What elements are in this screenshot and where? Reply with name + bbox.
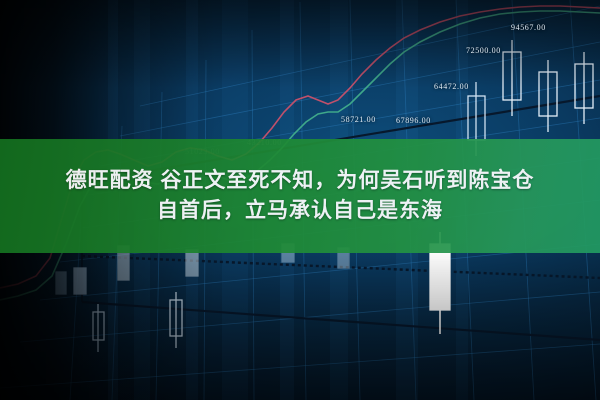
price-label: 67896.00 <box>396 116 431 125</box>
price-label: 94567.00 <box>511 23 546 32</box>
headline-banner: 德旺配资 谷正文至死不知，为何吴石听到陈宝仓 自首后，立马承认自己是东海 <box>0 139 600 253</box>
headline-line-1: 德旺配资 谷正文至死不知，为何吴石听到陈宝仓 <box>66 168 535 194</box>
price-label: 58721.00 <box>341 115 376 124</box>
trendline-dashed <box>82 256 600 278</box>
candle <box>170 292 182 348</box>
price-label: 64472.00 <box>434 82 469 91</box>
candle <box>539 60 557 132</box>
candle <box>575 52 593 124</box>
headline-line-2: 自首后，立马承认自己是东海 <box>157 198 443 224</box>
candle <box>93 304 104 352</box>
candle <box>503 40 521 116</box>
promo-banner-image: 94567.00 72500.00 64472.00 58721.00 6789… <box>0 0 600 400</box>
candle <box>74 268 86 294</box>
trendline-lower <box>82 302 600 340</box>
candle <box>186 250 198 276</box>
price-label: 72500.00 <box>466 46 501 55</box>
candle <box>56 272 66 294</box>
